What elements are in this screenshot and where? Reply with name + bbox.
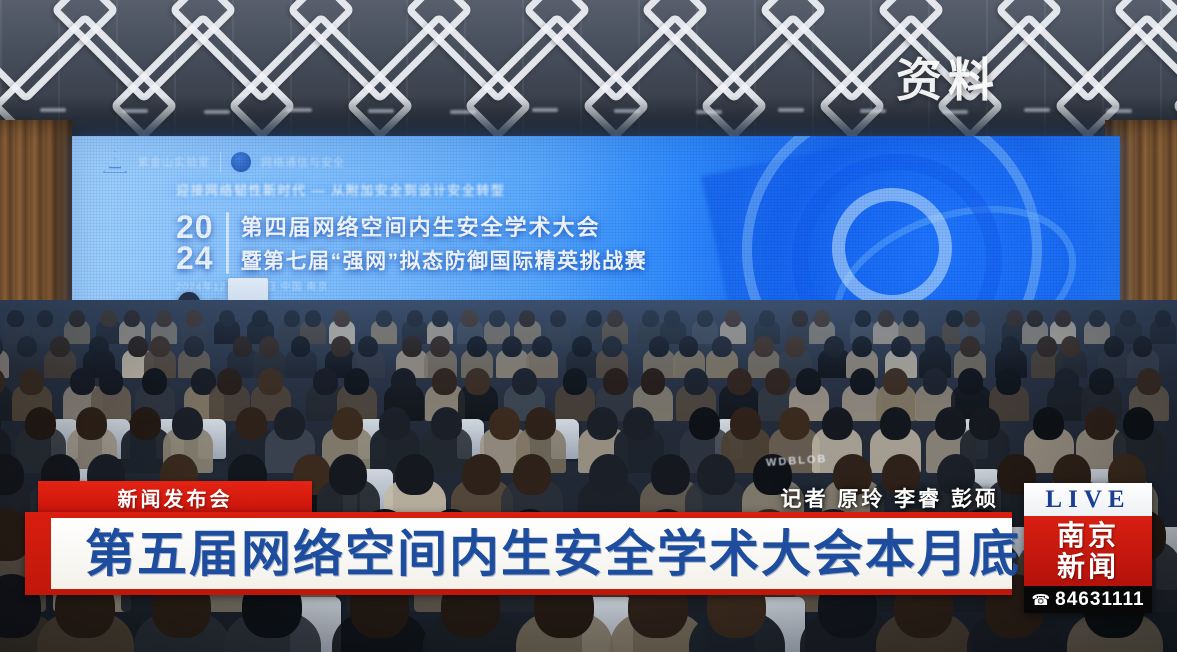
audience-head	[1061, 336, 1081, 357]
audience-head	[602, 336, 622, 357]
audience-head	[431, 407, 462, 440]
audience-head	[76, 407, 107, 440]
audience-head	[313, 368, 338, 395]
audience-head	[850, 368, 875, 395]
audience-head	[332, 407, 363, 440]
audience-head	[603, 368, 628, 395]
audience-head	[824, 336, 844, 357]
audience-head	[513, 454, 551, 496]
audience-head	[1137, 368, 1162, 395]
audience-head	[284, 310, 300, 327]
audience-head	[878, 310, 894, 327]
audience-head	[822, 407, 853, 440]
audience-head	[236, 407, 267, 440]
audience-head	[641, 368, 666, 395]
audience-head	[358, 336, 378, 357]
audience-head	[785, 336, 805, 357]
audience-head	[1089, 310, 1105, 327]
reporter-credit: 记者 原玲 李睿 彭硕	[780, 483, 999, 513]
audience-head	[70, 368, 95, 395]
hotline-number: 84631111	[1055, 589, 1144, 611]
audience-head	[274, 407, 305, 440]
audience-head	[101, 310, 117, 327]
audience-head	[19, 368, 44, 395]
audience-head	[99, 368, 124, 395]
channel-name-line-1: 南京	[1057, 521, 1119, 550]
audience-head	[344, 368, 369, 395]
audience-head	[259, 336, 279, 357]
audience-head	[502, 336, 522, 357]
audience-head	[697, 310, 713, 327]
live-channel-logo: LIVE 南京 新闻 ☎ 84631111	[1024, 483, 1152, 613]
audience-head	[186, 310, 202, 327]
audience-head	[305, 310, 321, 327]
audience-head	[69, 310, 85, 327]
audience-head	[150, 336, 170, 357]
audience-head	[25, 407, 56, 440]
audience-head	[883, 368, 908, 395]
audience-head	[219, 310, 235, 327]
audience-head	[1054, 368, 1079, 395]
audience-head	[586, 310, 602, 327]
headline-inner: 第五届网络空间内生安全学术大会本月底召开	[51, 518, 1012, 589]
audience-head	[1089, 368, 1114, 395]
audience-head	[684, 368, 709, 395]
audience-head	[964, 310, 980, 327]
audience-head	[467, 336, 487, 357]
audience-head	[519, 310, 535, 327]
audience-head	[725, 310, 741, 327]
audience-head	[969, 407, 1000, 440]
audience-head	[730, 407, 761, 440]
audience-head	[1133, 336, 1153, 357]
audience-head	[1104, 336, 1124, 357]
audience-head	[329, 454, 367, 496]
audience-head	[891, 336, 911, 357]
audience-head	[649, 336, 669, 357]
audience-head	[1001, 336, 1021, 357]
audience-head	[572, 336, 592, 357]
hotline-bar[interactable]: ☎ 84631111	[1024, 586, 1152, 613]
audience-head	[142, 368, 167, 395]
audience-head	[37, 310, 53, 327]
phone-handset-icon: ☎	[1031, 591, 1050, 609]
audience-head	[291, 336, 311, 357]
broadcast-frame: 紫金山实验室 网络通信与安全 迎接网络韧性新时代 — 从附加安全到设计安全转型 …	[0, 0, 1177, 652]
audience-head	[1037, 336, 1057, 357]
live-label: LIVE	[1045, 486, 1130, 514]
audience-head	[379, 407, 410, 440]
audience-head	[1155, 310, 1171, 327]
audience-head	[50, 336, 70, 357]
category-tag-label: 新闻发布会	[118, 483, 233, 512]
audience-head	[233, 336, 253, 357]
audience-head	[958, 368, 983, 395]
audience-head	[759, 310, 775, 327]
audience-head	[664, 310, 680, 327]
audience-head	[461, 310, 477, 327]
audience-head	[642, 310, 658, 327]
audience-head	[925, 336, 945, 357]
audience-head	[258, 368, 283, 395]
audience-head	[512, 368, 537, 395]
audience-head	[697, 454, 735, 496]
audience-head	[607, 310, 623, 327]
audience-head	[1120, 310, 1136, 327]
audience-head	[489, 310, 505, 327]
audience-head	[89, 336, 109, 357]
audience-head	[525, 407, 556, 440]
archive-footage-watermark: 资料	[896, 44, 1000, 110]
channel-name-block: 南京 新闻	[1024, 516, 1152, 586]
audience-head	[996, 368, 1021, 395]
audience-head	[727, 368, 752, 395]
audience-head	[855, 310, 871, 327]
audience-head	[407, 310, 423, 327]
venue-ceiling	[0, 0, 1177, 150]
audience-head	[1033, 407, 1064, 440]
audience-seating	[0, 300, 1177, 652]
audience-head	[765, 368, 790, 395]
audience-head	[334, 310, 350, 327]
audience-head	[7, 310, 23, 327]
audience-head	[589, 454, 627, 496]
audience-head	[1055, 310, 1071, 327]
audience-head	[402, 336, 422, 357]
audience-head	[465, 368, 490, 395]
audience-head	[395, 454, 433, 496]
headline-banner: 第五届网络空间内生安全学术大会本月底召开	[25, 512, 1012, 595]
audience-head	[17, 336, 37, 357]
audience-head	[462, 454, 500, 496]
audience-head	[1085, 407, 1116, 440]
audience-head	[1027, 310, 1043, 327]
audience-head	[550, 310, 566, 327]
audience-head	[679, 336, 699, 357]
ceiling-light-strip	[0, 104, 1177, 134]
audience-head	[1006, 310, 1022, 327]
audience-head	[623, 407, 654, 440]
audience-head	[563, 368, 588, 395]
audience-head	[432, 368, 457, 395]
audience-head	[331, 336, 351, 357]
audience-head	[391, 368, 416, 395]
audience-head	[712, 336, 732, 357]
audience-head	[903, 310, 919, 327]
category-tag-badge: 新闻发布会	[38, 481, 312, 514]
live-indicator: LIVE	[1024, 483, 1152, 516]
audience-head	[184, 336, 204, 357]
audience-head	[130, 407, 161, 440]
audience-head	[1123, 407, 1154, 440]
audience-head	[217, 368, 242, 395]
audience-head	[172, 407, 203, 440]
audience-head	[532, 336, 552, 357]
audience-head	[587, 407, 618, 440]
audience-head	[754, 336, 774, 357]
audience-head	[689, 407, 720, 440]
audience-head	[252, 310, 268, 327]
audience-head	[814, 310, 830, 327]
audience-head	[880, 407, 911, 440]
audience-head	[792, 310, 808, 327]
audience-head	[432, 310, 448, 327]
audience-head	[796, 368, 821, 395]
headline-text: 第五届网络空间内生安全学术大会本月底召开	[85, 529, 1125, 579]
audience-head	[960, 336, 980, 357]
audience-head	[376, 310, 392, 327]
channel-name-line-2: 新闻	[1057, 552, 1119, 581]
audience-head	[651, 454, 689, 496]
audience-head	[156, 310, 172, 327]
audience-head	[489, 407, 520, 440]
audience-head	[430, 336, 450, 357]
audience-head	[779, 407, 810, 440]
audience-head	[124, 310, 140, 327]
audience-head	[923, 368, 948, 395]
audience-head	[852, 336, 872, 357]
